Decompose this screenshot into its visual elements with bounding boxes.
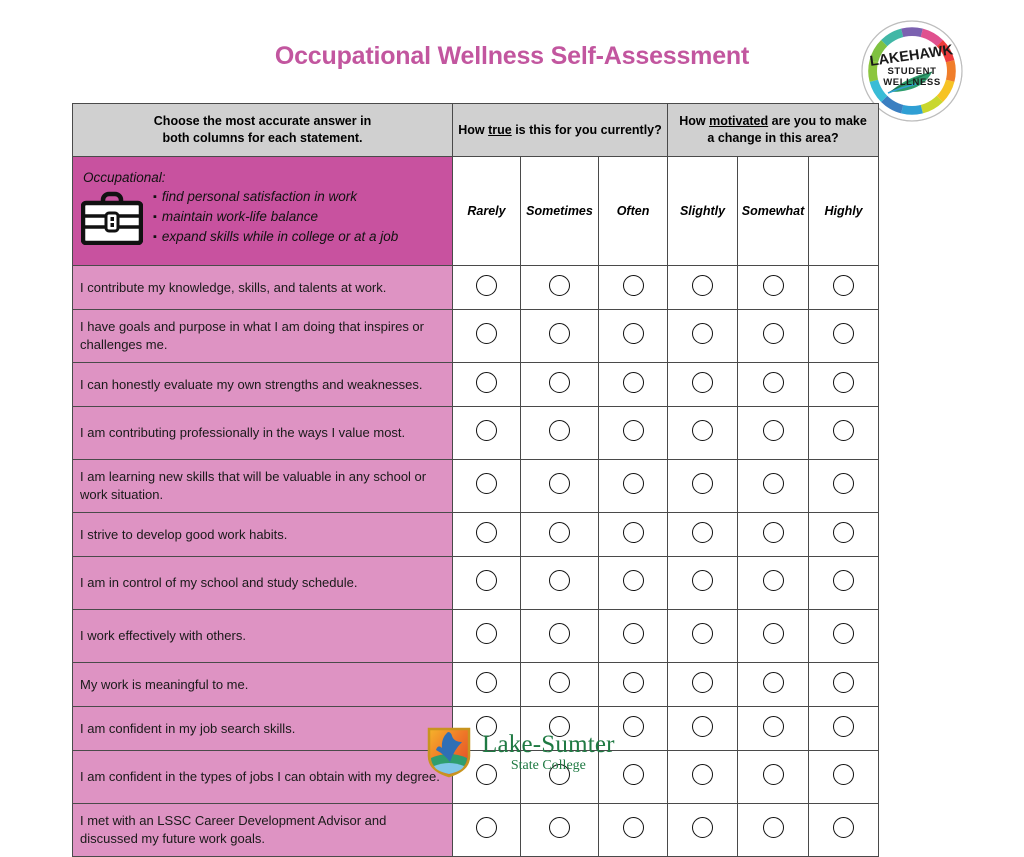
option-slightly[interactable] [668,310,738,363]
option-sometimes[interactable] [521,610,599,663]
dimension-bullet: maintain work-life balance [153,207,398,227]
radio-circle[interactable] [763,372,784,393]
radio-circle[interactable] [549,817,570,838]
dimension-bullet: find personal satisfaction in work [153,187,398,207]
college-subtitle: State College [482,759,615,773]
radio-circle[interactable] [476,420,497,441]
option-sometimes[interactable] [521,557,599,610]
option-often[interactable] [599,310,668,363]
table-row: I contribute my knowledge, skills, and t… [73,266,879,310]
option-highly[interactable] [809,557,879,610]
option-slightly[interactable] [668,610,738,663]
table-row: I met with an LSSC Career Development Ad… [73,804,879,857]
statement-text: I contribute my knowledge, skills, and t… [73,266,453,310]
option-slightly[interactable] [668,407,738,460]
radio-circle[interactable] [833,672,854,693]
option-slightly[interactable] [668,460,738,513]
option-rarely[interactable] [453,557,521,610]
statement-text: I work effectively with others. [73,610,453,663]
option-highly[interactable] [809,751,879,804]
option-rarely[interactable] [453,460,521,513]
true-group-emphasis: true [488,123,512,137]
option-often[interactable] [599,557,668,610]
radio-circle[interactable] [692,275,713,296]
option-highly[interactable] [809,266,879,310]
radio-circle[interactable] [549,473,570,494]
radio-circle[interactable] [763,473,784,494]
radio-circle[interactable] [833,275,854,296]
radio-circle[interactable] [763,420,784,441]
radio-circle[interactable] [476,672,497,693]
radio-circle[interactable] [476,570,497,591]
option-somewhat[interactable] [738,610,809,663]
statement-text: I am confident in my job search skills. [73,707,453,751]
motivated-group-line2: a change in this area? [672,130,874,147]
option-often[interactable] [599,407,668,460]
radio-circle[interactable] [476,522,497,543]
radio-circle[interactable] [549,420,570,441]
radio-circle[interactable] [763,716,784,737]
radio-circle[interactable] [476,623,497,644]
radio-circle[interactable] [763,275,784,296]
option-often[interactable] [599,460,668,513]
table-row: I am contributing professionally in the … [73,407,879,460]
table-row: I can honestly evaluate my own strengths… [73,363,879,407]
statement-text: I met with an LSSC Career Development Ad… [73,804,453,857]
radio-circle[interactable] [833,623,854,644]
option-rarely[interactable] [453,804,521,857]
table-row: I have goals and purpose in what I am do… [73,310,879,363]
lake-sumter-state-college-logo: Lake-Sumter State College [426,723,626,781]
statement-text: I have goals and purpose in what I am do… [73,310,453,363]
radio-circle[interactable] [763,522,784,543]
table-row: I am learning new skills that will be va… [73,460,879,513]
table-row: I strive to develop good work habits. [73,513,879,557]
scale-label-somewhat: Somewhat [738,157,809,266]
option-slightly[interactable] [668,266,738,310]
option-highly[interactable] [809,663,879,707]
option-sometimes[interactable] [521,363,599,407]
radio-circle[interactable] [692,716,713,737]
instructions-cell: Choose the most accurate answer in both … [73,104,453,157]
option-somewhat[interactable] [738,513,809,557]
radio-circle[interactable] [692,672,713,693]
wellness-logo-line1: STUDENT [887,66,936,77]
radio-circle[interactable] [476,473,497,494]
radio-circle[interactable] [623,372,644,393]
radio-circle[interactable] [763,323,784,344]
option-somewhat[interactable] [738,663,809,707]
option-sometimes[interactable] [521,663,599,707]
option-sometimes[interactable] [521,407,599,460]
true-group-pre: How [458,123,488,137]
option-somewhat[interactable] [738,804,809,857]
radio-circle[interactable] [763,623,784,644]
radio-circle[interactable] [763,570,784,591]
scale-label-rarely: Rarely [453,157,521,266]
instructions-line-2: both columns for each statement. [77,130,448,147]
radio-circle[interactable] [763,672,784,693]
radio-circle[interactable] [763,817,784,838]
dimension-title: Occupational: [83,170,444,185]
college-name: Lake-Sumter [482,732,615,757]
option-rarely[interactable] [453,663,521,707]
table-row: My work is meaningful to me. [73,663,879,707]
option-somewhat[interactable] [738,407,809,460]
statement-text: I can honestly evaluate my own strengths… [73,363,453,407]
radio-circle[interactable] [476,817,497,838]
radio-circle[interactable] [833,372,854,393]
radio-circle[interactable] [833,764,854,785]
scale-label-often: Often [599,157,668,266]
radio-circle[interactable] [833,522,854,543]
option-somewhat[interactable] [738,266,809,310]
radio-circle[interactable] [623,672,644,693]
dimension-bullet-list: find personal satisfaction in work maint… [149,187,398,247]
option-slightly[interactable] [668,557,738,610]
option-highly[interactable] [809,407,879,460]
option-rarely[interactable] [453,363,521,407]
instructions-line-1: Choose the most accurate answer in [77,113,448,130]
option-somewhat[interactable] [738,751,809,804]
radio-circle[interactable] [623,473,644,494]
table-row: I am in control of my school and study s… [73,557,879,610]
radio-circle[interactable] [623,323,644,344]
option-rarely[interactable] [453,407,521,460]
option-somewhat[interactable] [738,707,809,751]
radio-circle[interactable] [692,623,713,644]
radio-circle[interactable] [549,522,570,543]
radio-circle[interactable] [692,522,713,543]
option-sometimes[interactable] [521,460,599,513]
radio-circle[interactable] [476,323,497,344]
option-highly[interactable] [809,513,879,557]
radio-circle[interactable] [833,420,854,441]
statement-text: I am contributing professionally in the … [73,407,453,460]
option-slightly[interactable] [668,363,738,407]
radio-circle[interactable] [833,716,854,737]
table-row: I work effectively with others. [73,610,879,663]
table-scale-row: Occupational: find personal satisfaction… [73,157,879,266]
radio-circle[interactable] [692,473,713,494]
option-somewhat[interactable] [738,557,809,610]
dimension-bullet: expand skills while in college or at a j… [153,227,398,247]
option-somewhat[interactable] [738,363,809,407]
radio-circle[interactable] [623,817,644,838]
statement-text: My work is meaningful to me. [73,663,453,707]
motivated-group-post: are you to make [768,114,867,128]
radio-circle[interactable] [692,323,713,344]
option-sometimes[interactable] [521,310,599,363]
radio-circle[interactable] [549,672,570,693]
radio-circle[interactable] [763,764,784,785]
occupational-description-cell: Occupational: find personal satisfaction… [73,157,453,266]
true-group-post: is this for you currently? [512,123,662,137]
radio-circle[interactable] [623,623,644,644]
scale-label-highly: Highly [809,157,879,266]
table-header-groups: Choose the most accurate answer in both … [73,104,879,157]
radio-circle[interactable] [549,275,570,296]
scale-label-sometimes: Sometimes [521,157,599,266]
motivated-group-emphasis: motivated [709,114,768,128]
option-often[interactable] [599,363,668,407]
radio-circle[interactable] [833,473,854,494]
radio-circle[interactable] [476,372,497,393]
radio-circle[interactable] [623,420,644,441]
statement-text: I strive to develop good work habits. [73,513,453,557]
option-highly[interactable] [809,804,879,857]
option-slightly[interactable] [668,751,738,804]
radio-circle[interactable] [549,623,570,644]
motivated-group-pre: How [679,114,709,128]
option-rarely[interactable] [453,513,521,557]
radio-circle[interactable] [476,275,497,296]
radio-circle[interactable] [623,522,644,543]
hawk-shield-icon [426,726,472,778]
option-often[interactable] [599,610,668,663]
radio-circle[interactable] [692,570,713,591]
statement-text: I am learning new skills that will be va… [73,460,453,513]
wellness-logo-line2: WELLNESS [883,77,941,88]
option-highly[interactable] [809,460,879,513]
option-highly[interactable] [809,310,879,363]
option-highly[interactable] [809,363,879,407]
briefcase-icon [81,187,149,250]
statement-text: I am confident in the types of jobs I ca… [73,751,453,804]
statement-text: I am in control of my school and study s… [73,557,453,610]
option-somewhat[interactable] [738,310,809,363]
option-sometimes[interactable] [521,513,599,557]
radio-circle[interactable] [623,570,644,591]
radio-circle[interactable] [549,372,570,393]
option-often[interactable] [599,513,668,557]
option-highly[interactable] [809,707,879,751]
radio-circle[interactable] [549,570,570,591]
option-somewhat[interactable] [738,460,809,513]
scale-label-slightly: Slightly [668,157,738,266]
radio-circle[interactable] [692,817,713,838]
option-often[interactable] [599,663,668,707]
option-rarely[interactable] [453,610,521,663]
radio-circle[interactable] [833,570,854,591]
radio-circle[interactable] [692,764,713,785]
radio-circle[interactable] [833,817,854,838]
motivated-group-header: How motivated are you to make a change i… [668,104,879,157]
radio-circle[interactable] [623,275,644,296]
option-sometimes[interactable] [521,804,599,857]
option-rarely[interactable] [453,310,521,363]
option-slightly[interactable] [668,663,738,707]
option-slightly[interactable] [668,804,738,857]
option-rarely[interactable] [453,266,521,310]
true-group-header: How true is this for you currently? [453,104,668,157]
radio-circle[interactable] [692,420,713,441]
option-highly[interactable] [809,610,879,663]
radio-circle[interactable] [549,323,570,344]
option-slightly[interactable] [668,513,738,557]
option-sometimes[interactable] [521,266,599,310]
radio-circle[interactable] [833,323,854,344]
option-often[interactable] [599,266,668,310]
radio-circle[interactable] [692,372,713,393]
option-slightly[interactable] [668,707,738,751]
option-often[interactable] [599,804,668,857]
